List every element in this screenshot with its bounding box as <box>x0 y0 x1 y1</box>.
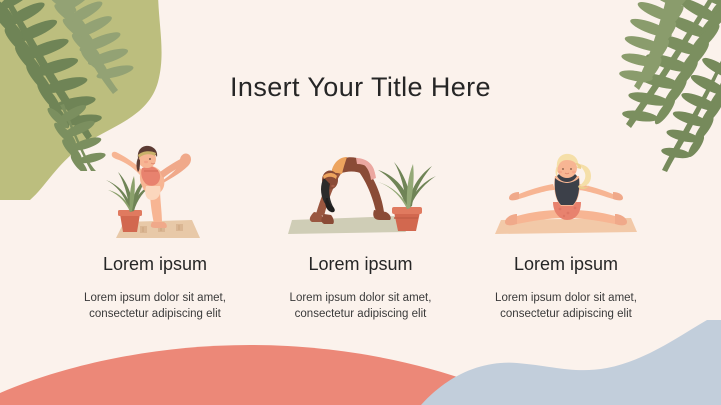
column-heading-1: Lorem ipsum <box>103 252 207 276</box>
yoga-splits-pose-icon <box>491 140 641 240</box>
illustration-container-3 <box>473 128 659 240</box>
content-column-2: Lorem ipsum Lorem ipsum dolor sit amet, … <box>268 128 454 322</box>
blue-wave <box>421 320 721 405</box>
column-body-1: Lorem ipsum dolor sit amet, consectetur … <box>66 290 244 322</box>
slide-canvas: Insert Your Title Here <box>0 0 721 405</box>
column-heading-3: Lorem ipsum <box>514 252 618 276</box>
column-body-3: Lorem ipsum dolor sit amet, consectetur … <box>477 290 655 322</box>
content-column-3: Lorem ipsum Lorem ipsum dolor sit amet, … <box>473 128 659 322</box>
column-body-2: Lorem ipsum dolor sit amet, consectetur … <box>272 290 450 322</box>
yoga-downward-dog-pose-icon <box>286 136 436 240</box>
page-title: Insert Your Title Here <box>0 70 721 104</box>
illustration-container-2 <box>268 128 454 240</box>
illustration-container-1 <box>62 128 248 240</box>
content-columns: Lorem ipsum Lorem ipsum dolor sit amet, … <box>62 128 659 322</box>
content-column-1: Lorem ipsum Lorem ipsum dolor sit amet, … <box>62 128 248 322</box>
column-heading-2: Lorem ipsum <box>308 252 412 276</box>
yoga-dancer-pose-icon <box>96 128 214 240</box>
coral-arc <box>0 315 500 405</box>
